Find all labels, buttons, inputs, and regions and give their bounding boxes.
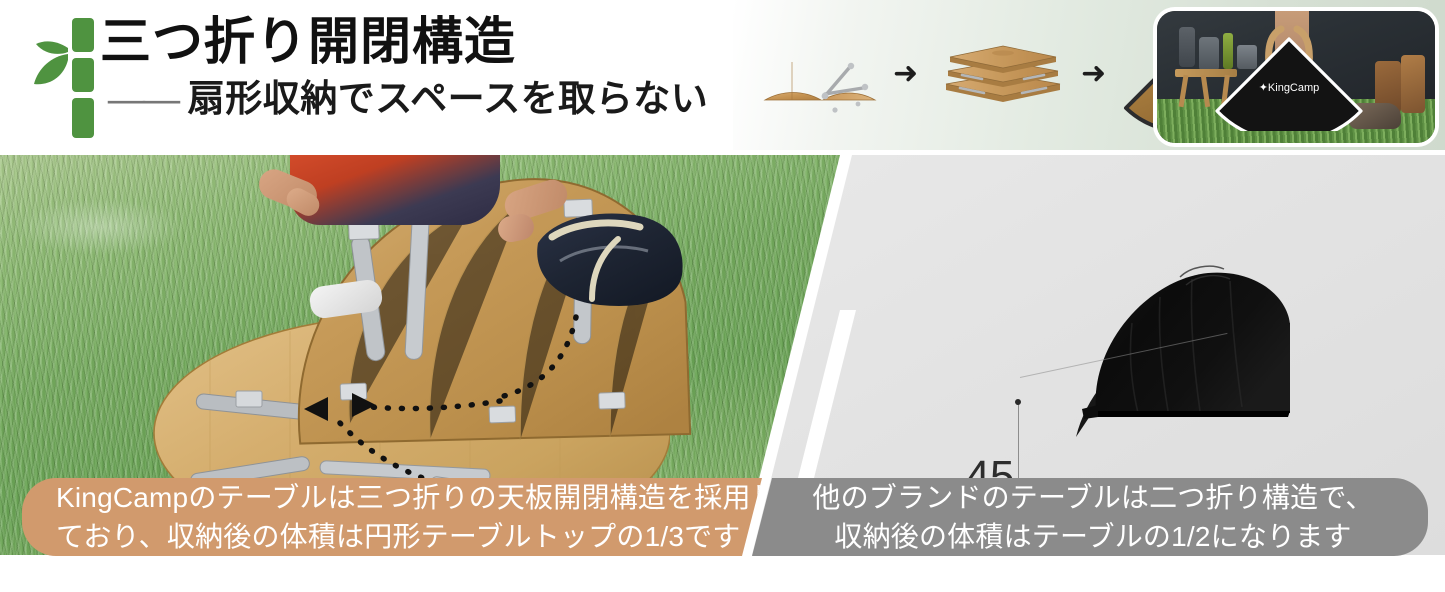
- svg-text:✦KingCamp: ✦KingCamp: [1259, 82, 1320, 94]
- caption-left-line1: KingCampのテーブルは三つ折りの天板開閉構造を採用し: [56, 478, 732, 517]
- arrow-step1-icon: ➜: [893, 59, 918, 89]
- product-feature-banner: 三つ折り開閉構造 —— 扇形収納でスペースを取らない: [0, 0, 1445, 592]
- banner-header: 三つ折り開閉構造 —— 扇形収納でスペースを取らない: [0, 0, 1445, 155]
- dim-dot-height-top: [1015, 399, 1021, 405]
- subtitle-text: 扇形収納でスペースを取らない: [188, 79, 709, 120]
- navy-carry-bag: [530, 203, 690, 313]
- step-folded-half: [763, 38, 881, 116]
- step-carry-bag: ✦KingCamp: [1018, 12, 1163, 137]
- page-title: 三つ折り開閉構造: [100, 12, 730, 74]
- photo-fan-bag: ✦KingCamp: [1211, 25, 1367, 131]
- subtitle-dash: ——: [108, 79, 178, 120]
- bamboo-logo-icon: [28, 12, 106, 144]
- person-torso: [290, 155, 500, 225]
- photo-bottle-1: [1179, 27, 1195, 67]
- header-title-block: 三つ折り開閉構造 —— 扇形収納でスペースを取らない: [100, 12, 730, 124]
- caption-kingcamp: KingCampのテーブルは三つ折りの天板開閉構造を採用し ており、収納後の体積…: [22, 478, 762, 556]
- caption-other-brands: 他のブランドのテーブルは二つ折り構造で、 収納後の体積はテーブルの1/2になりま…: [752, 478, 1428, 556]
- header-campsite-photo: ✦KingCamp: [1157, 11, 1435, 143]
- caption-right-line2: 収納後の体積はテーブルの1/2になります: [792, 517, 1394, 556]
- photo-firewood-2: [1401, 55, 1425, 113]
- caption-bars: KingCampのテーブルは三つ折りの天板開閉構造を採用し ており、収納後の体積…: [0, 470, 1445, 592]
- header-title-area: 三つ折り開閉構造 —— 扇形収納でスペースを取らない: [0, 0, 733, 155]
- caption-right-line1: 他のブランドのテーブルは二つ折り構造で、: [792, 478, 1394, 517]
- caption-left-line2: ており、収納後の体積は円形テーブルトップの1/3です: [56, 517, 732, 556]
- page-subtitle: —— 扇形収納でスペースを取らない: [100, 76, 730, 124]
